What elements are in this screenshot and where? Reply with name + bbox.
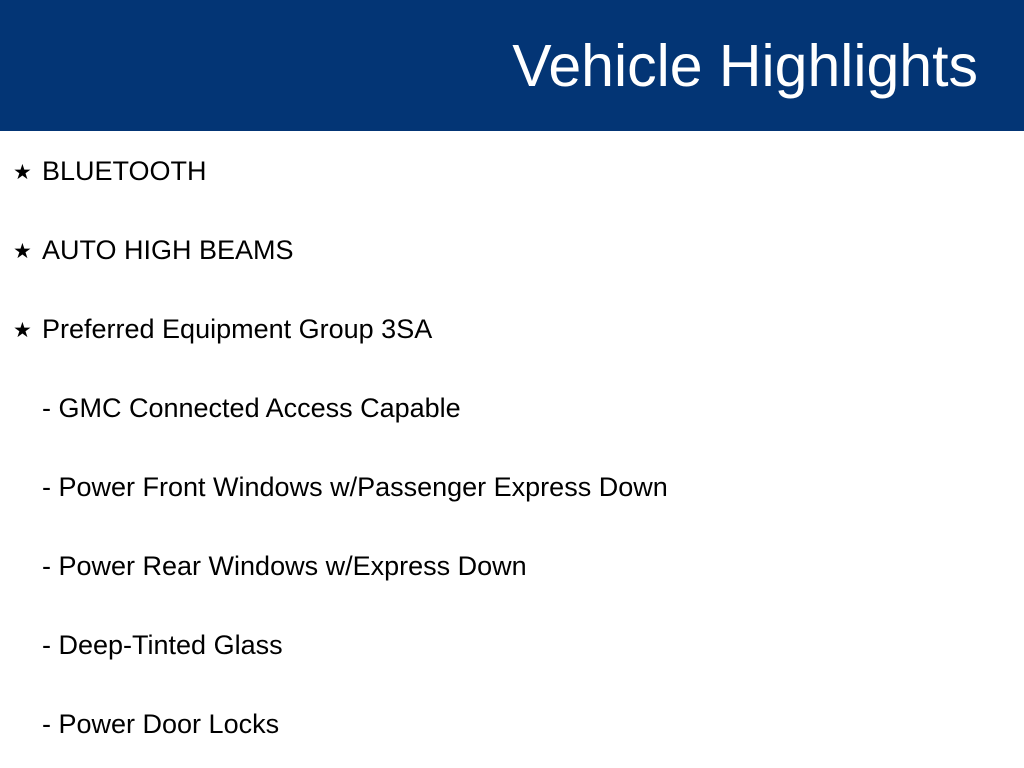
sub-list-item: - Power Rear Windows w/Express Down <box>0 546 1024 588</box>
star-bullet-icon: ★ <box>13 162 42 183</box>
list-item-label: BLUETOOTH <box>42 157 207 187</box>
star-bullet-icon: ★ <box>13 320 42 341</box>
list-item: ★Preferred Equipment Group 3SA <box>0 309 1024 351</box>
page-title: Vehicle Highlights <box>512 37 978 96</box>
list-item: ★AUTO HIGH BEAMS <box>0 230 1024 272</box>
sub-list-item-label: - Power Front Windows w/Passenger Expres… <box>42 473 668 503</box>
list-item-label: AUTO HIGH BEAMS <box>42 236 294 266</box>
sub-list-item-label: - Deep-Tinted Glass <box>42 631 283 661</box>
slide: Vehicle Highlights ★BLUETOOTH★AUTO HIGH … <box>0 0 1024 768</box>
title-banner: Vehicle Highlights <box>0 0 1024 131</box>
sub-list-item-label: - Power Rear Windows w/Express Down <box>42 552 527 582</box>
sub-list-item: - Power Door Locks <box>0 704 1024 746</box>
star-bullet-icon: ★ <box>13 241 42 262</box>
sub-list-item: - Deep-Tinted Glass <box>0 625 1024 667</box>
sub-list-item: - Power Front Windows w/Passenger Expres… <box>0 467 1024 509</box>
list-item-label: Preferred Equipment Group 3SA <box>42 315 432 345</box>
list-item: ★BLUETOOTH <box>0 151 1024 193</box>
sub-list-item: - GMC Connected Access Capable <box>0 388 1024 430</box>
sub-list-item-label: - GMC Connected Access Capable <box>42 394 461 424</box>
sub-list-item-label: - Power Door Locks <box>42 710 279 740</box>
highlights-list: ★BLUETOOTH★AUTO HIGH BEAMS★Preferred Equ… <box>0 131 1024 768</box>
